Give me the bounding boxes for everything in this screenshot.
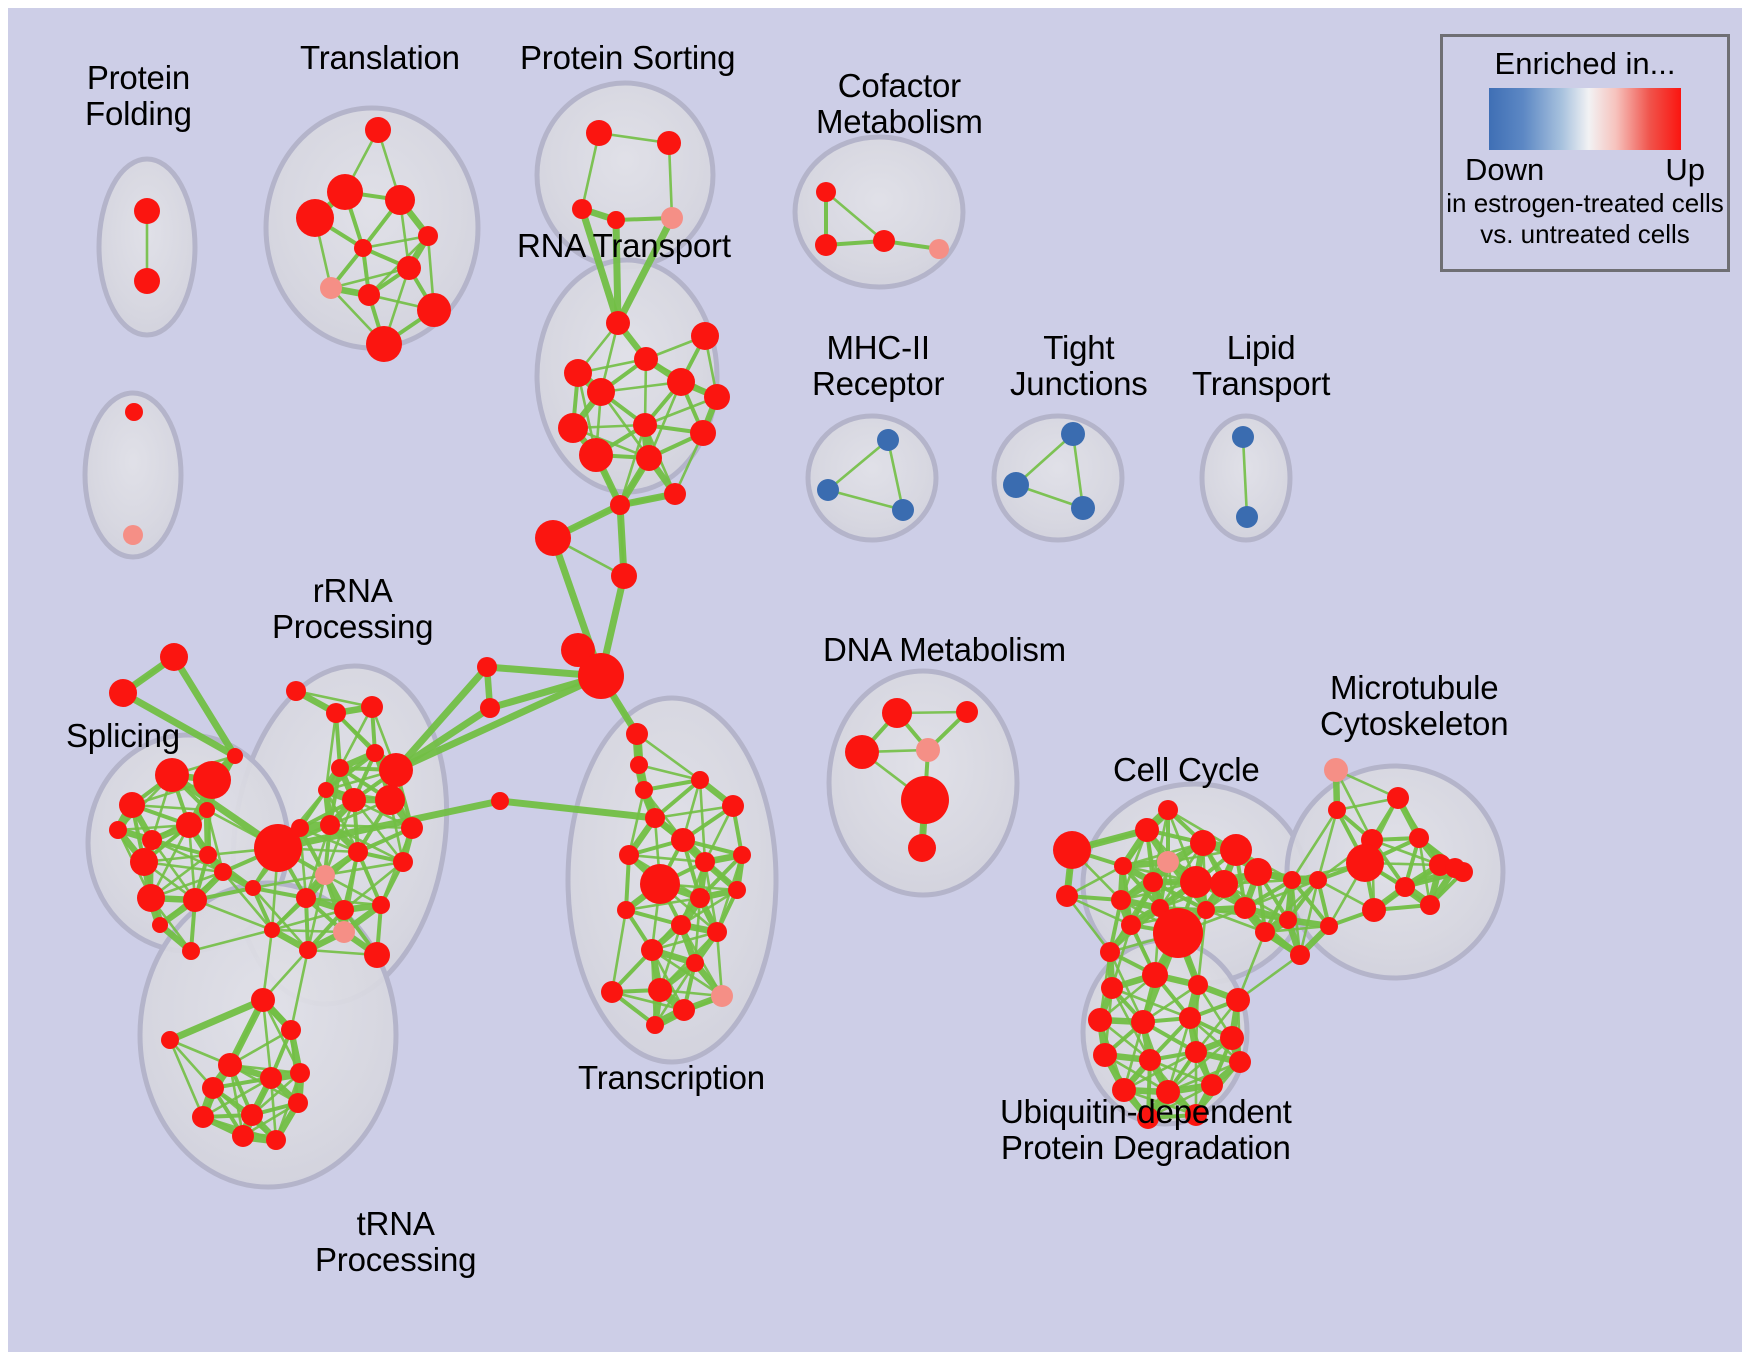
network-node[interactable]: [1328, 801, 1346, 819]
network-node[interactable]: [728, 881, 746, 899]
network-node[interactable]: [587, 378, 615, 406]
network-node[interactable]: [586, 120, 612, 146]
network-node[interactable]: [1283, 871, 1301, 889]
network-node[interactable]: [1229, 1051, 1251, 1073]
legend-low-label: Down: [1465, 152, 1544, 188]
network-node[interactable]: [873, 230, 895, 252]
network-node[interactable]: [397, 256, 421, 280]
network-node[interactable]: [193, 761, 231, 799]
network-node[interactable]: [617, 901, 635, 919]
network-node[interactable]: [1153, 908, 1203, 958]
network-node[interactable]: [183, 888, 207, 912]
network-node[interactable]: [417, 293, 451, 327]
legend-high-label: Up: [1665, 152, 1705, 188]
network-node[interactable]: [733, 846, 751, 864]
network-node[interactable]: [358, 284, 380, 306]
legend-panel: Enriched in... Down Up in estrogen-treat…: [1440, 34, 1730, 272]
network-node[interactable]: [176, 812, 202, 838]
network-node[interactable]: [1226, 988, 1250, 1012]
network-node[interactable]: [558, 413, 588, 443]
network-node[interactable]: [1142, 962, 1168, 988]
network-node[interactable]: [1244, 858, 1272, 886]
network-node[interactable]: [1279, 911, 1297, 929]
network-node[interactable]: [845, 735, 879, 769]
network-node[interactable]: [1290, 945, 1310, 965]
network-node[interactable]: [722, 795, 744, 817]
network-node[interactable]: [1101, 977, 1123, 999]
network-node[interactable]: [634, 347, 658, 371]
network-node[interactable]: [691, 322, 719, 350]
network-node[interactable]: [477, 657, 497, 677]
network-node[interactable]: [1093, 1043, 1117, 1067]
cluster-hull-protein-sorting: [537, 83, 713, 267]
network-node[interactable]: [711, 985, 733, 1007]
network-node[interactable]: [1156, 1080, 1180, 1104]
network-node[interactable]: [1112, 1078, 1136, 1102]
network-node[interactable]: [327, 174, 363, 210]
network-node[interactable]: [610, 495, 630, 515]
network-node[interactable]: [299, 941, 317, 959]
network-node[interactable]: [671, 915, 691, 935]
network-node[interactable]: [815, 234, 837, 256]
network-node[interactable]: [601, 981, 623, 1003]
network-node[interactable]: [333, 921, 355, 943]
network-node[interactable]: [916, 738, 940, 762]
network-node[interactable]: [366, 744, 384, 762]
network-node[interactable]: [640, 864, 680, 904]
network-node[interactable]: [1111, 890, 1131, 910]
network-node[interactable]: [1409, 828, 1429, 848]
network-node[interactable]: [125, 403, 143, 421]
network-node[interactable]: [673, 999, 695, 1021]
network-node[interactable]: [1362, 898, 1386, 922]
network-node[interactable]: [192, 1106, 214, 1128]
network-node[interactable]: [109, 679, 137, 707]
network-node[interactable]: [704, 384, 730, 410]
network-node[interactable]: [572, 199, 592, 219]
network-node[interactable]: [1135, 818, 1159, 842]
network-node[interactable]: [119, 792, 145, 818]
network-node[interactable]: [182, 942, 200, 960]
network-node[interactable]: [202, 1077, 224, 1099]
network-node[interactable]: [1232, 426, 1254, 448]
network-node[interactable]: [606, 311, 630, 335]
network-node[interactable]: [348, 842, 368, 862]
network-node[interactable]: [1324, 758, 1348, 782]
network-node[interactable]: [361, 696, 383, 718]
network-node[interactable]: [578, 653, 624, 699]
network-node[interactable]: [227, 748, 243, 764]
network-node[interactable]: [645, 808, 665, 828]
network-node[interactable]: [152, 917, 168, 933]
network-node[interactable]: [266, 1130, 286, 1150]
network-node[interactable]: [611, 563, 637, 589]
network-node[interactable]: [1100, 942, 1120, 962]
network-node[interactable]: [633, 413, 657, 437]
network-node[interactable]: [320, 277, 342, 299]
network-node[interactable]: [393, 852, 413, 872]
color-scale-bar: [1489, 88, 1681, 150]
network-node[interactable]: [630, 756, 648, 774]
network-node[interactable]: [579, 438, 613, 472]
network-node[interactable]: [232, 1125, 254, 1147]
legend-caption-line2: vs. untreated cells: [1480, 220, 1690, 250]
cluster-hull-cofactor: [795, 137, 963, 287]
network-node[interactable]: [1420, 895, 1440, 915]
network-node[interactable]: [342, 788, 366, 812]
network-node[interactable]: [1180, 866, 1212, 898]
network-node[interactable]: [648, 978, 672, 1002]
network-node[interactable]: [251, 988, 275, 1012]
network-node[interactable]: [690, 888, 710, 908]
network-node[interactable]: [626, 723, 648, 745]
network-node[interactable]: [418, 226, 438, 246]
network-node[interactable]: [817, 479, 839, 501]
network-node[interactable]: [137, 884, 165, 912]
network-node[interactable]: [686, 954, 704, 972]
network-node[interactable]: [315, 865, 335, 885]
network-node[interactable]: [1236, 506, 1258, 528]
network-node[interactable]: [1053, 831, 1091, 869]
network-node[interactable]: [892, 499, 914, 521]
network-node[interactable]: [1201, 1074, 1223, 1096]
network-node[interactable]: [290, 1063, 310, 1083]
network-node[interactable]: [160, 643, 188, 671]
network-node[interactable]: [401, 817, 423, 839]
network-node[interactable]: [264, 922, 280, 938]
network-node[interactable]: [161, 1031, 179, 1049]
network-node[interactable]: [1114, 857, 1132, 875]
network-node[interactable]: [241, 1104, 263, 1126]
network-node[interactable]: [1185, 1041, 1207, 1063]
network-node[interactable]: [1220, 1026, 1244, 1050]
network-node[interactable]: [1003, 472, 1029, 498]
network-node[interactable]: [564, 359, 592, 387]
network-node[interactable]: [635, 781, 653, 799]
network-node[interactable]: [155, 758, 189, 792]
network-node[interactable]: [254, 824, 302, 872]
network-node[interactable]: [929, 239, 949, 259]
network-node[interactable]: [619, 845, 639, 865]
network-node[interactable]: [218, 1053, 242, 1077]
network-node[interactable]: [1139, 1049, 1161, 1071]
network-node[interactable]: [707, 922, 727, 942]
network-node[interactable]: [901, 776, 949, 824]
network-node[interactable]: [1071, 496, 1095, 520]
network-node[interactable]: [1210, 870, 1238, 898]
network-node[interactable]: [1220, 834, 1252, 866]
network-node[interactable]: [1088, 1008, 1112, 1032]
network-node[interactable]: [199, 846, 217, 864]
legend-scale-ends: Down Up: [1465, 152, 1705, 188]
network-node[interactable]: [491, 792, 509, 810]
network-node[interactable]: [1197, 901, 1215, 919]
network-node[interactable]: [245, 880, 261, 896]
network-node[interactable]: [636, 445, 662, 471]
network-node[interactable]: [331, 759, 349, 777]
network-node[interactable]: [134, 268, 160, 294]
network-node[interactable]: [535, 520, 571, 556]
network-node[interactable]: [1255, 922, 1275, 942]
network-node[interactable]: [199, 802, 215, 818]
network-node[interactable]: [286, 681, 306, 701]
network-node[interactable]: [667, 368, 695, 396]
network-node[interactable]: [1234, 897, 1256, 919]
network-node[interactable]: [260, 1067, 282, 1089]
network-node[interactable]: [695, 852, 715, 872]
network-node[interactable]: [1346, 844, 1384, 882]
network-node[interactable]: [296, 888, 316, 908]
network-node[interactable]: [1387, 787, 1409, 809]
network-node[interactable]: [326, 703, 346, 723]
network-node[interactable]: [1143, 872, 1163, 892]
network-node[interactable]: [646, 1016, 664, 1034]
network-node[interactable]: [366, 326, 402, 362]
network-node[interactable]: [214, 863, 232, 881]
network-node[interactable]: [375, 785, 405, 815]
network-node[interactable]: [816, 182, 836, 202]
network-node[interactable]: [1188, 975, 1208, 995]
network-node[interactable]: [1445, 858, 1465, 878]
network-node[interactable]: [334, 900, 354, 920]
legend-caption-line1: in estrogen-treated cells: [1446, 189, 1723, 219]
network-node[interactable]: [318, 782, 334, 798]
network-node[interactable]: [690, 420, 716, 446]
network-node[interactable]: [1121, 915, 1141, 935]
network-node[interactable]: [1320, 917, 1338, 935]
network-node[interactable]: [134, 198, 160, 224]
network-node[interactable]: [354, 239, 372, 257]
network-node[interactable]: [1157, 851, 1179, 873]
network-node[interactable]: [671, 828, 695, 852]
figure-canvas: Protein FoldingTranslationProtein Sortin…: [0, 0, 1750, 1360]
network-node[interactable]: [691, 771, 709, 789]
cluster-hull-mhc-ii: [808, 416, 936, 540]
network-node[interactable]: [1185, 1104, 1207, 1126]
network-node[interactable]: [1190, 830, 1216, 856]
network-node[interactable]: [882, 698, 912, 728]
network-node[interactable]: [364, 942, 390, 968]
network-node[interactable]: [281, 1020, 301, 1040]
network-node[interactable]: [480, 698, 500, 718]
network-node[interactable]: [664, 483, 686, 505]
network-node[interactable]: [288, 1093, 308, 1113]
network-node[interactable]: [657, 131, 681, 155]
network-node[interactable]: [1056, 885, 1078, 907]
network-node[interactable]: [908, 834, 936, 862]
network-node[interactable]: [1137, 1107, 1159, 1129]
network-node[interactable]: [130, 848, 158, 876]
network-node[interactable]: [1179, 1007, 1201, 1029]
network-node[interactable]: [1131, 1010, 1155, 1034]
network-node[interactable]: [109, 821, 127, 839]
network-node[interactable]: [661, 207, 683, 229]
network-node[interactable]: [372, 896, 390, 914]
legend-title: Enriched in...: [1495, 46, 1676, 82]
network-node[interactable]: [123, 525, 143, 545]
network-node[interactable]: [956, 701, 978, 723]
network-node[interactable]: [1061, 422, 1085, 446]
network-node[interactable]: [1395, 877, 1415, 897]
network-node[interactable]: [320, 815, 340, 835]
network-node[interactable]: [1309, 871, 1327, 889]
network-node[interactable]: [365, 117, 391, 143]
network-node[interactable]: [296, 199, 334, 237]
network-node[interactable]: [641, 939, 663, 961]
network-node[interactable]: [877, 429, 899, 451]
network-node[interactable]: [379, 753, 413, 787]
network-node[interactable]: [385, 185, 415, 215]
network-node[interactable]: [607, 211, 625, 229]
network-node[interactable]: [142, 830, 162, 850]
network-node[interactable]: [1158, 800, 1178, 820]
